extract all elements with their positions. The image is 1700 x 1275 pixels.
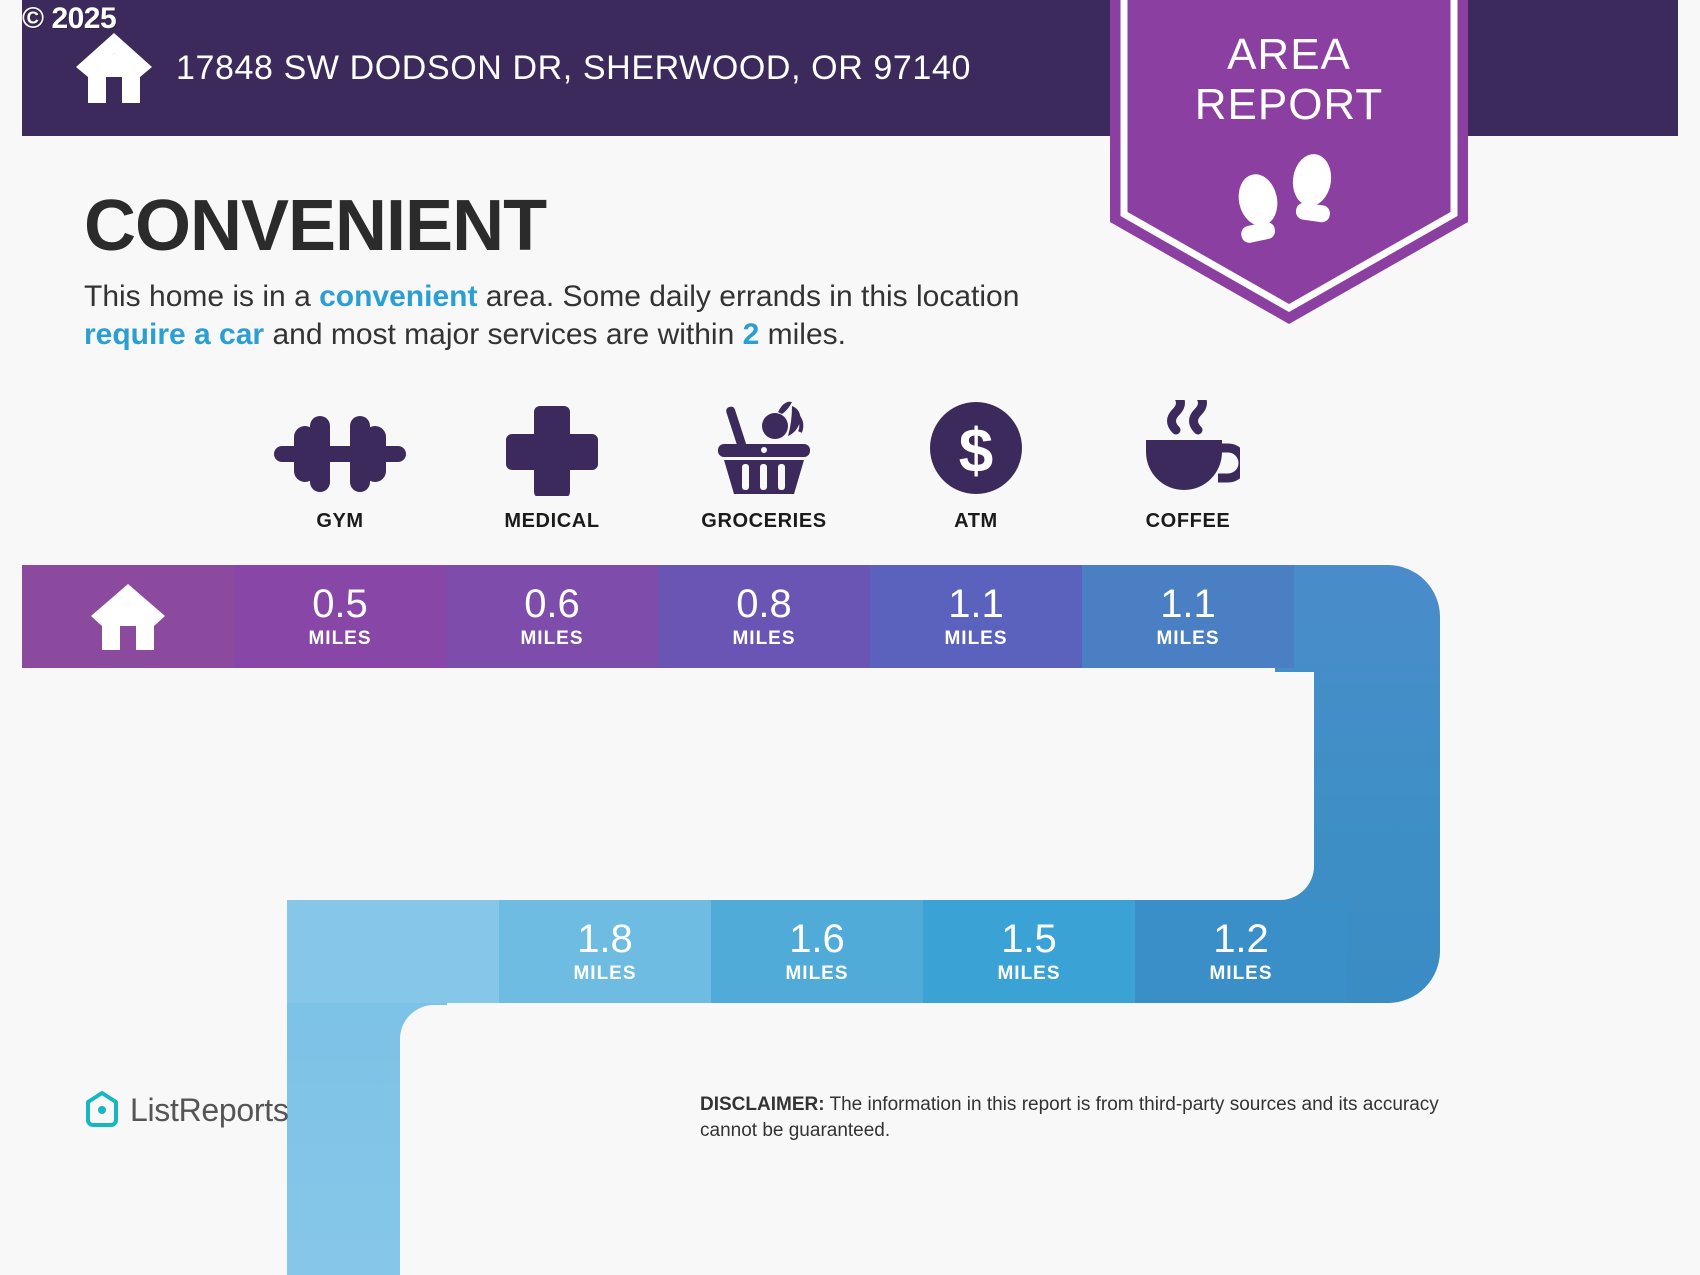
disclaimer: DISCLAIMER: The information in this repo… — [700, 1092, 1500, 1144]
spacer-cell — [22, 400, 234, 533]
distance-cell-movie-theater: 1.8 MILES — [499, 900, 711, 1003]
desc-highlight-require-a-car: require a car — [84, 318, 264, 351]
distance-cell-atm: 1.1 MILES — [870, 565, 1082, 668]
distance-unit-movie-theater: MILES — [573, 963, 636, 985]
home-icon — [74, 31, 154, 105]
distance-value-coffee: 1.1 — [1160, 584, 1216, 624]
amenity-gym: GYM — [234, 400, 446, 533]
desc-part-3: and most major services are within — [264, 318, 743, 351]
coffee-cup-icon — [1136, 400, 1240, 496]
amenity-label-atm: ATM — [954, 510, 998, 533]
listreports-logo-text: ListReports — [130, 1092, 289, 1129]
distance-unit-atm: MILES — [944, 628, 1007, 650]
distance-cell-pharmacy: 1.5 MILES — [923, 900, 1135, 1003]
distance-unit-groceries: MILES — [732, 628, 795, 650]
amenity-label-medical: MEDICAL — [504, 510, 599, 533]
description-text: This home is in a convenient area. Some … — [84, 278, 1044, 354]
distance-cell-gym: 0.5 MILES — [234, 565, 446, 668]
disclaimer-label: DISCLAIMER: — [700, 1094, 825, 1115]
amenity-label-gym: GYM — [316, 510, 363, 533]
medical-cross-icon — [506, 400, 598, 496]
distance-unit-cleaners: MILES — [785, 963, 848, 985]
distance-value-gym: 0.5 — [312, 584, 368, 624]
home-icon — [89, 582, 167, 652]
svg-text:$: $ — [959, 417, 993, 486]
distance-bar-top: 0.5 MILES 0.6 MILES 0.8 MILES 1.1 MILES … — [22, 565, 1294, 668]
distance-value-atm: 1.1 — [948, 584, 1004, 624]
distance-cell-spacer — [287, 900, 499, 1003]
badge-text: AREA REPORT — [1110, 30, 1468, 130]
amenity-label-groceries: GROCERIES — [701, 510, 826, 533]
amenity-coffee: COFFEE — [1082, 400, 1294, 533]
desc-part-1: This home is in a — [84, 280, 319, 313]
desc-highlight-miles-number: 2 — [743, 318, 760, 351]
badge-line-2: REPORT — [1110, 80, 1468, 130]
distance-unit-medical: MILES — [520, 628, 583, 650]
distance-cell-cleaners: 1.6 MILES — [711, 900, 923, 1003]
path-notch-top — [287, 672, 1314, 900]
distance-unit-gym: MILES — [308, 628, 371, 650]
dumbbell-icon — [272, 400, 408, 496]
listreports-logo: ListReports — [84, 1090, 289, 1130]
distance-cell-groceries: 0.8 MILES — [658, 565, 870, 668]
distance-cell-home — [22, 565, 234, 668]
desc-part-2: area. Some daily errands in this locatio… — [477, 280, 1019, 313]
distance-cell-gas: 1.2 MILES — [1135, 900, 1347, 1003]
amenity-medical: MEDICAL — [446, 400, 658, 533]
dollar-circle-icon: $ — [928, 400, 1024, 496]
amenity-atm: $ ATM — [870, 400, 1082, 533]
distance-value-pharmacy: 1.5 — [1001, 919, 1057, 959]
badge-line-1: AREA — [1110, 30, 1468, 80]
distance-cell-coffee: 1.1 MILES — [1082, 565, 1294, 668]
distance-value-movie-theater: 1.8 — [577, 919, 633, 959]
amenity-icon-row-top: GYM MEDICAL — [22, 400, 1297, 533]
distance-cell-medical: 0.6 MILES — [446, 565, 658, 668]
distance-value-gas: 1.2 — [1213, 919, 1269, 959]
distance-value-cleaners: 1.6 — [789, 919, 845, 959]
distance-value-groceries: 0.8 — [736, 584, 792, 624]
distance-value-medical: 0.6 — [524, 584, 580, 624]
listreports-logo-icon — [84, 1090, 120, 1130]
desc-highlight-convenient: convenient — [319, 280, 477, 313]
copyright-watermark: © 2025 — [22, 2, 116, 36]
property-address: 17848 SW DODSON DR, SHERWOOD, OR 97140 — [176, 49, 971, 88]
grocery-basket-icon — [712, 400, 816, 496]
amenity-label-coffee: COFFEE — [1146, 510, 1231, 533]
page-title: CONVENIENT — [84, 185, 546, 267]
distance-unit-coffee: MILES — [1156, 628, 1219, 650]
area-report-badge: AREA REPORT — [1110, 0, 1468, 324]
desc-part-4: miles. — [759, 318, 846, 351]
amenity-groceries: GROCERIES — [658, 400, 870, 533]
distance-unit-pharmacy: MILES — [997, 963, 1060, 985]
distance-bar-bottom: 1.8 MILES 1.6 MILES 1.5 MILES 1.2 MILES — [287, 900, 1347, 1003]
distance-unit-gas: MILES — [1209, 963, 1272, 985]
